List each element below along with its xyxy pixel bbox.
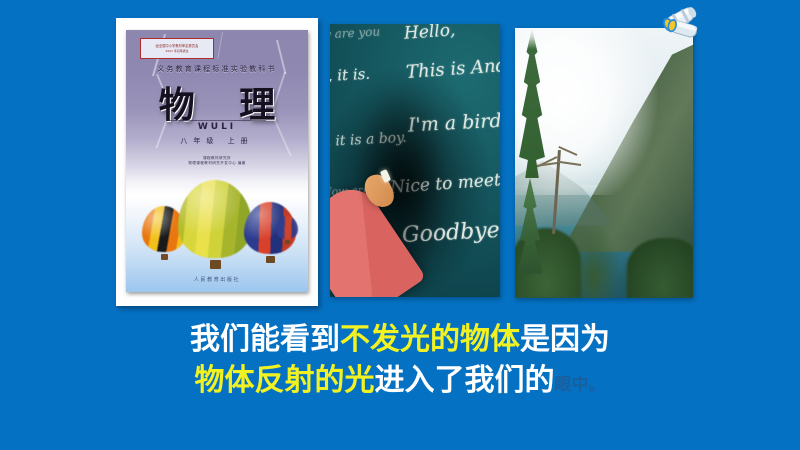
lightning-bolt-icon: [217, 32, 223, 58]
textbook-publisher-credit: 课程教材研究所 物理课程教材研究开发中心 编著: [126, 156, 308, 167]
image-chalkboard[interactable]: y are you Hello, s, it is. This is Andy.…: [330, 24, 500, 297]
caption-pending-text: 眼中。: [555, 375, 606, 395]
caption-highlight: 不发光的物体: [340, 322, 520, 357]
caption-segment: 我们能看到: [190, 322, 340, 357]
slide-canvas: 经全国中小学教材审定委员会 2001 年初审通过 义务教育课程标准实验教科书 物…: [0, 0, 800, 450]
textbook-approval-stamp: 经全国中小学教材审定委员会 2001 年初审通过: [140, 38, 214, 59]
caption-segment: 是因为: [520, 322, 610, 357]
caption-line-2: 物体反射的光进入了我们的眼中。: [0, 363, 800, 400]
textbook-imprint: 人民教育出版社: [126, 276, 308, 283]
chalk-text-line: Hello,: [403, 24, 456, 44]
publisher-line-2: 物理课程教材研究开发中心 编著: [188, 161, 245, 165]
hot-air-balloon-icon: [276, 216, 298, 244]
caption-segment: 进入了我们的: [375, 363, 555, 398]
image-physics-textbook[interactable]: 经全国中小学教材审定委员会 2001 年初审通过 义务教育课程标准实验教科书 物…: [116, 18, 318, 306]
textbook-grade-label: 八年级 上册: [126, 136, 308, 146]
bare-tree: [533, 150, 581, 234]
textbook-divider-rule: [168, 120, 266, 121]
chalk-text-line: y are you: [330, 25, 380, 42]
approval-stamp-line-1: 经全国中小学教材审定委员会: [156, 45, 199, 48]
shrub: [627, 238, 693, 298]
chalk-text-line: This is Andy.: [405, 54, 500, 83]
chalk-text-line: s, it is.: [330, 65, 371, 86]
hot-air-balloon-icon: [178, 180, 252, 272]
caption-block: 我们能看到不发光的物体是因为 物体反射的光进入了我们的眼中。: [0, 322, 800, 399]
textbook-cover-art: 经全国中小学教材审定委员会 2001 年初审通过 义务教育课程标准实验教科书 物…: [126, 30, 308, 292]
textbook-series-label: 义务教育课程标准实验教科书: [126, 64, 308, 74]
publisher-line-1: 课程教材研究所: [203, 156, 231, 160]
image-misty-landscape[interactable]: [515, 28, 693, 298]
caption-line-1: 我们能看到不发光的物体是因为: [0, 322, 800, 359]
caption-highlight: 物体反射的光: [195, 363, 375, 398]
telescope-logo-icon[interactable]: [658, 0, 704, 44]
approval-stamp-line-2: 2001 年初审通过: [166, 50, 189, 53]
textbook-pinyin: WULI: [126, 122, 308, 132]
